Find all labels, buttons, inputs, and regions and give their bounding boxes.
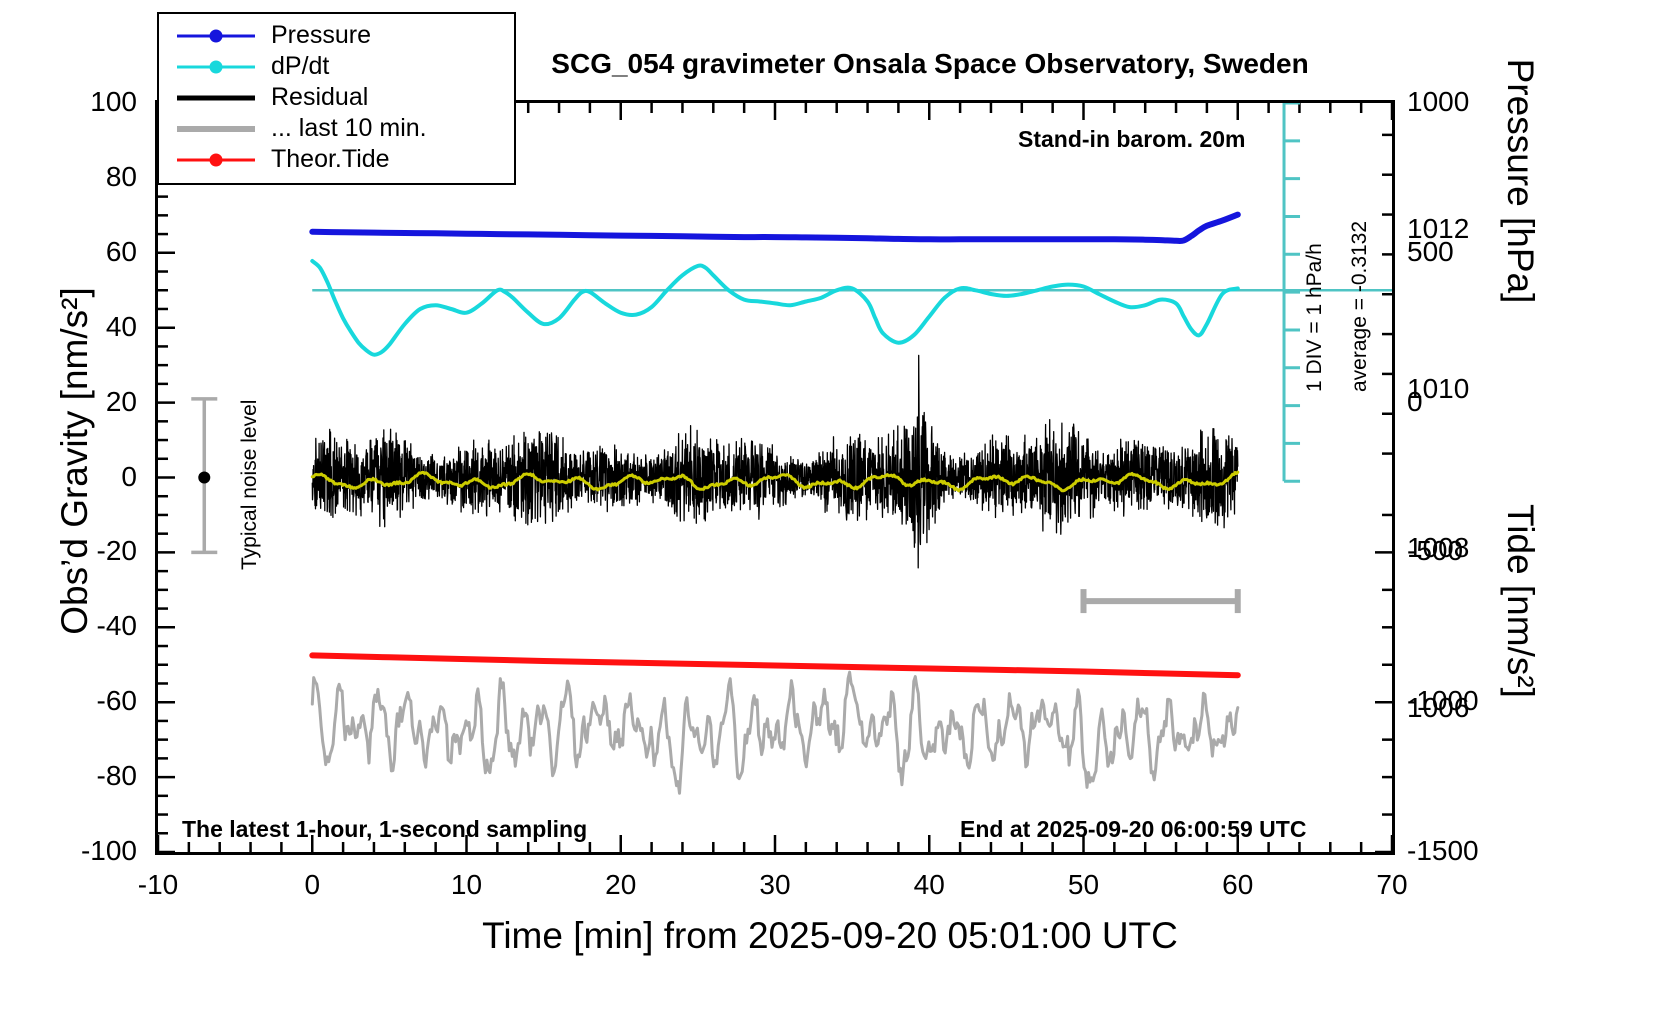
y-tick-label-left: -80 xyxy=(27,762,137,790)
y-tick-label-left: 40 xyxy=(27,313,137,341)
annotation-average: average = -0.3132 xyxy=(1348,221,1372,392)
y-tick-label-left: -40 xyxy=(27,612,137,640)
y-tick-label-tide: -1500 xyxy=(1407,837,1537,865)
x-tick-label: 70 xyxy=(1332,871,1452,899)
legend-item-pressure[interactable]: Pressure xyxy=(159,20,514,51)
legend-item-label: dP/dt xyxy=(271,52,329,81)
legend-marker-dot-icon xyxy=(210,29,223,42)
x-tick-label: 20 xyxy=(561,871,681,899)
legend-swatch-icon xyxy=(177,147,255,173)
annotation-div-scale: 1 DIV = 1 hPa/h xyxy=(1303,243,1327,392)
series-last-10-min xyxy=(312,672,1238,793)
x-tick-label: 30 xyxy=(715,871,835,899)
plot-canvas xyxy=(158,103,1392,852)
legend-swatch-icon xyxy=(177,85,255,111)
y-axis-tide-label: Tide [nm/s²] xyxy=(1499,421,1541,781)
y-tick-label-tide: 0 xyxy=(1407,388,1537,416)
y-tick-label-left: 80 xyxy=(27,163,137,191)
x-tick-label: 40 xyxy=(869,871,989,899)
y-tick-label-tide: 500 xyxy=(1407,238,1537,266)
legend: PressuredP/dtResidual... last 10 min.The… xyxy=(157,12,516,185)
annotation-end-time: End at 2025-09-20 06:00:59 UTC xyxy=(960,816,1306,843)
annotation-standin-barom: Stand-in barom. 20m xyxy=(1018,126,1245,153)
legend-swatch-icon xyxy=(177,54,255,80)
plot-area xyxy=(155,100,1395,855)
legend-marker-dot-icon xyxy=(210,153,223,166)
gravimeter-plot: SCG_054 gravimeter Onsala Space Observat… xyxy=(0,0,1660,1020)
y-tick-label-left: 0 xyxy=(27,463,137,491)
annotation-sampling: The latest 1-hour, 1-second sampling xyxy=(182,816,587,843)
series-residual xyxy=(312,355,1238,568)
legend-item-theor-tide[interactable]: Theor.Tide xyxy=(159,144,514,175)
legend-swatch-icon xyxy=(177,116,255,142)
legend-item-label: Pressure xyxy=(271,21,371,50)
legend-item-residual[interactable]: Residual xyxy=(159,82,514,113)
y-tick-label-left: -20 xyxy=(27,537,137,565)
y-tick-label-left: -100 xyxy=(27,837,137,865)
legend-item-last-10-min[interactable]: ... last 10 min. xyxy=(159,113,514,144)
annotation-noise-level: Typical noise level xyxy=(238,400,262,570)
series-dpdt xyxy=(312,261,1238,355)
noise-level-center-dot xyxy=(198,472,210,484)
y-tick-label-tide: 1000 xyxy=(1407,88,1537,116)
x-axis-label: Time [min] from 2025-09-20 05:01:00 UTC xyxy=(0,915,1660,957)
legend-item-label: Theor.Tide xyxy=(271,145,390,174)
x-tick-label: 60 xyxy=(1178,871,1298,899)
series-theor-tide xyxy=(312,655,1238,675)
page-title: SCG_054 gravimeter Onsala Space Observat… xyxy=(430,48,1430,80)
x-tick-label: 10 xyxy=(407,871,527,899)
y-tick-label-left: 60 xyxy=(27,238,137,266)
y-axis-pressure-label: Pressure [hPa] xyxy=(1499,0,1541,391)
legend-item-dp-dt[interactable]: dP/dt xyxy=(159,51,514,82)
series-pressure xyxy=(312,215,1238,241)
y-tick-label-left: 20 xyxy=(27,388,137,416)
x-tick-label: 0 xyxy=(252,871,372,899)
legend-item-label: Residual xyxy=(271,83,368,112)
y-tick-label-left: 100 xyxy=(27,88,137,116)
legend-swatch-icon xyxy=(177,23,255,49)
y-tick-label-tide: -500 xyxy=(1407,537,1537,565)
legend-item-label: ... last 10 min. xyxy=(271,114,427,143)
y-tick-label-left: -60 xyxy=(27,687,137,715)
x-tick-label: -10 xyxy=(98,871,218,899)
y-tick-label-tide: -1000 xyxy=(1407,687,1537,715)
x-tick-label: 50 xyxy=(1024,871,1144,899)
legend-marker-dot-icon xyxy=(210,60,223,73)
